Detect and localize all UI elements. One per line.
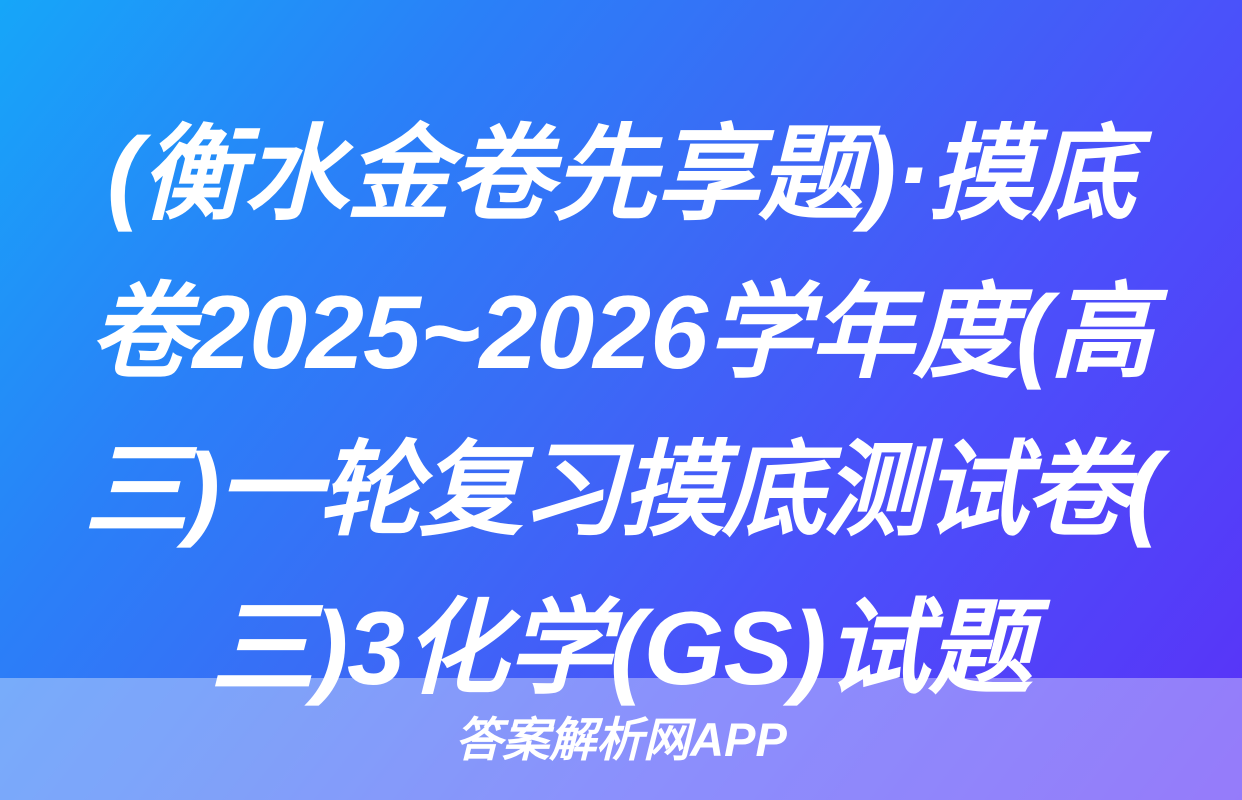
- footer-app-label: 答案解析网APP: [455, 716, 787, 763]
- title-line-1: (衡水金卷先享题)·摸底: [0, 96, 1242, 254]
- footer-watermark-band: 答案解析网APP: [0, 678, 1242, 800]
- title-line-2: 卷2025~2026学年度(高: [0, 254, 1242, 412]
- poster-canvas: (衡水金卷先享题)·摸底 卷2025~2026学年度(高 三)一轮复习摸底测试卷…: [0, 0, 1242, 800]
- title-line-3: 三)一轮复习摸底测试卷(: [0, 412, 1242, 570]
- page-title: (衡水金卷先享题)·摸底 卷2025~2026学年度(高 三)一轮复习摸底测试卷…: [0, 96, 1242, 728]
